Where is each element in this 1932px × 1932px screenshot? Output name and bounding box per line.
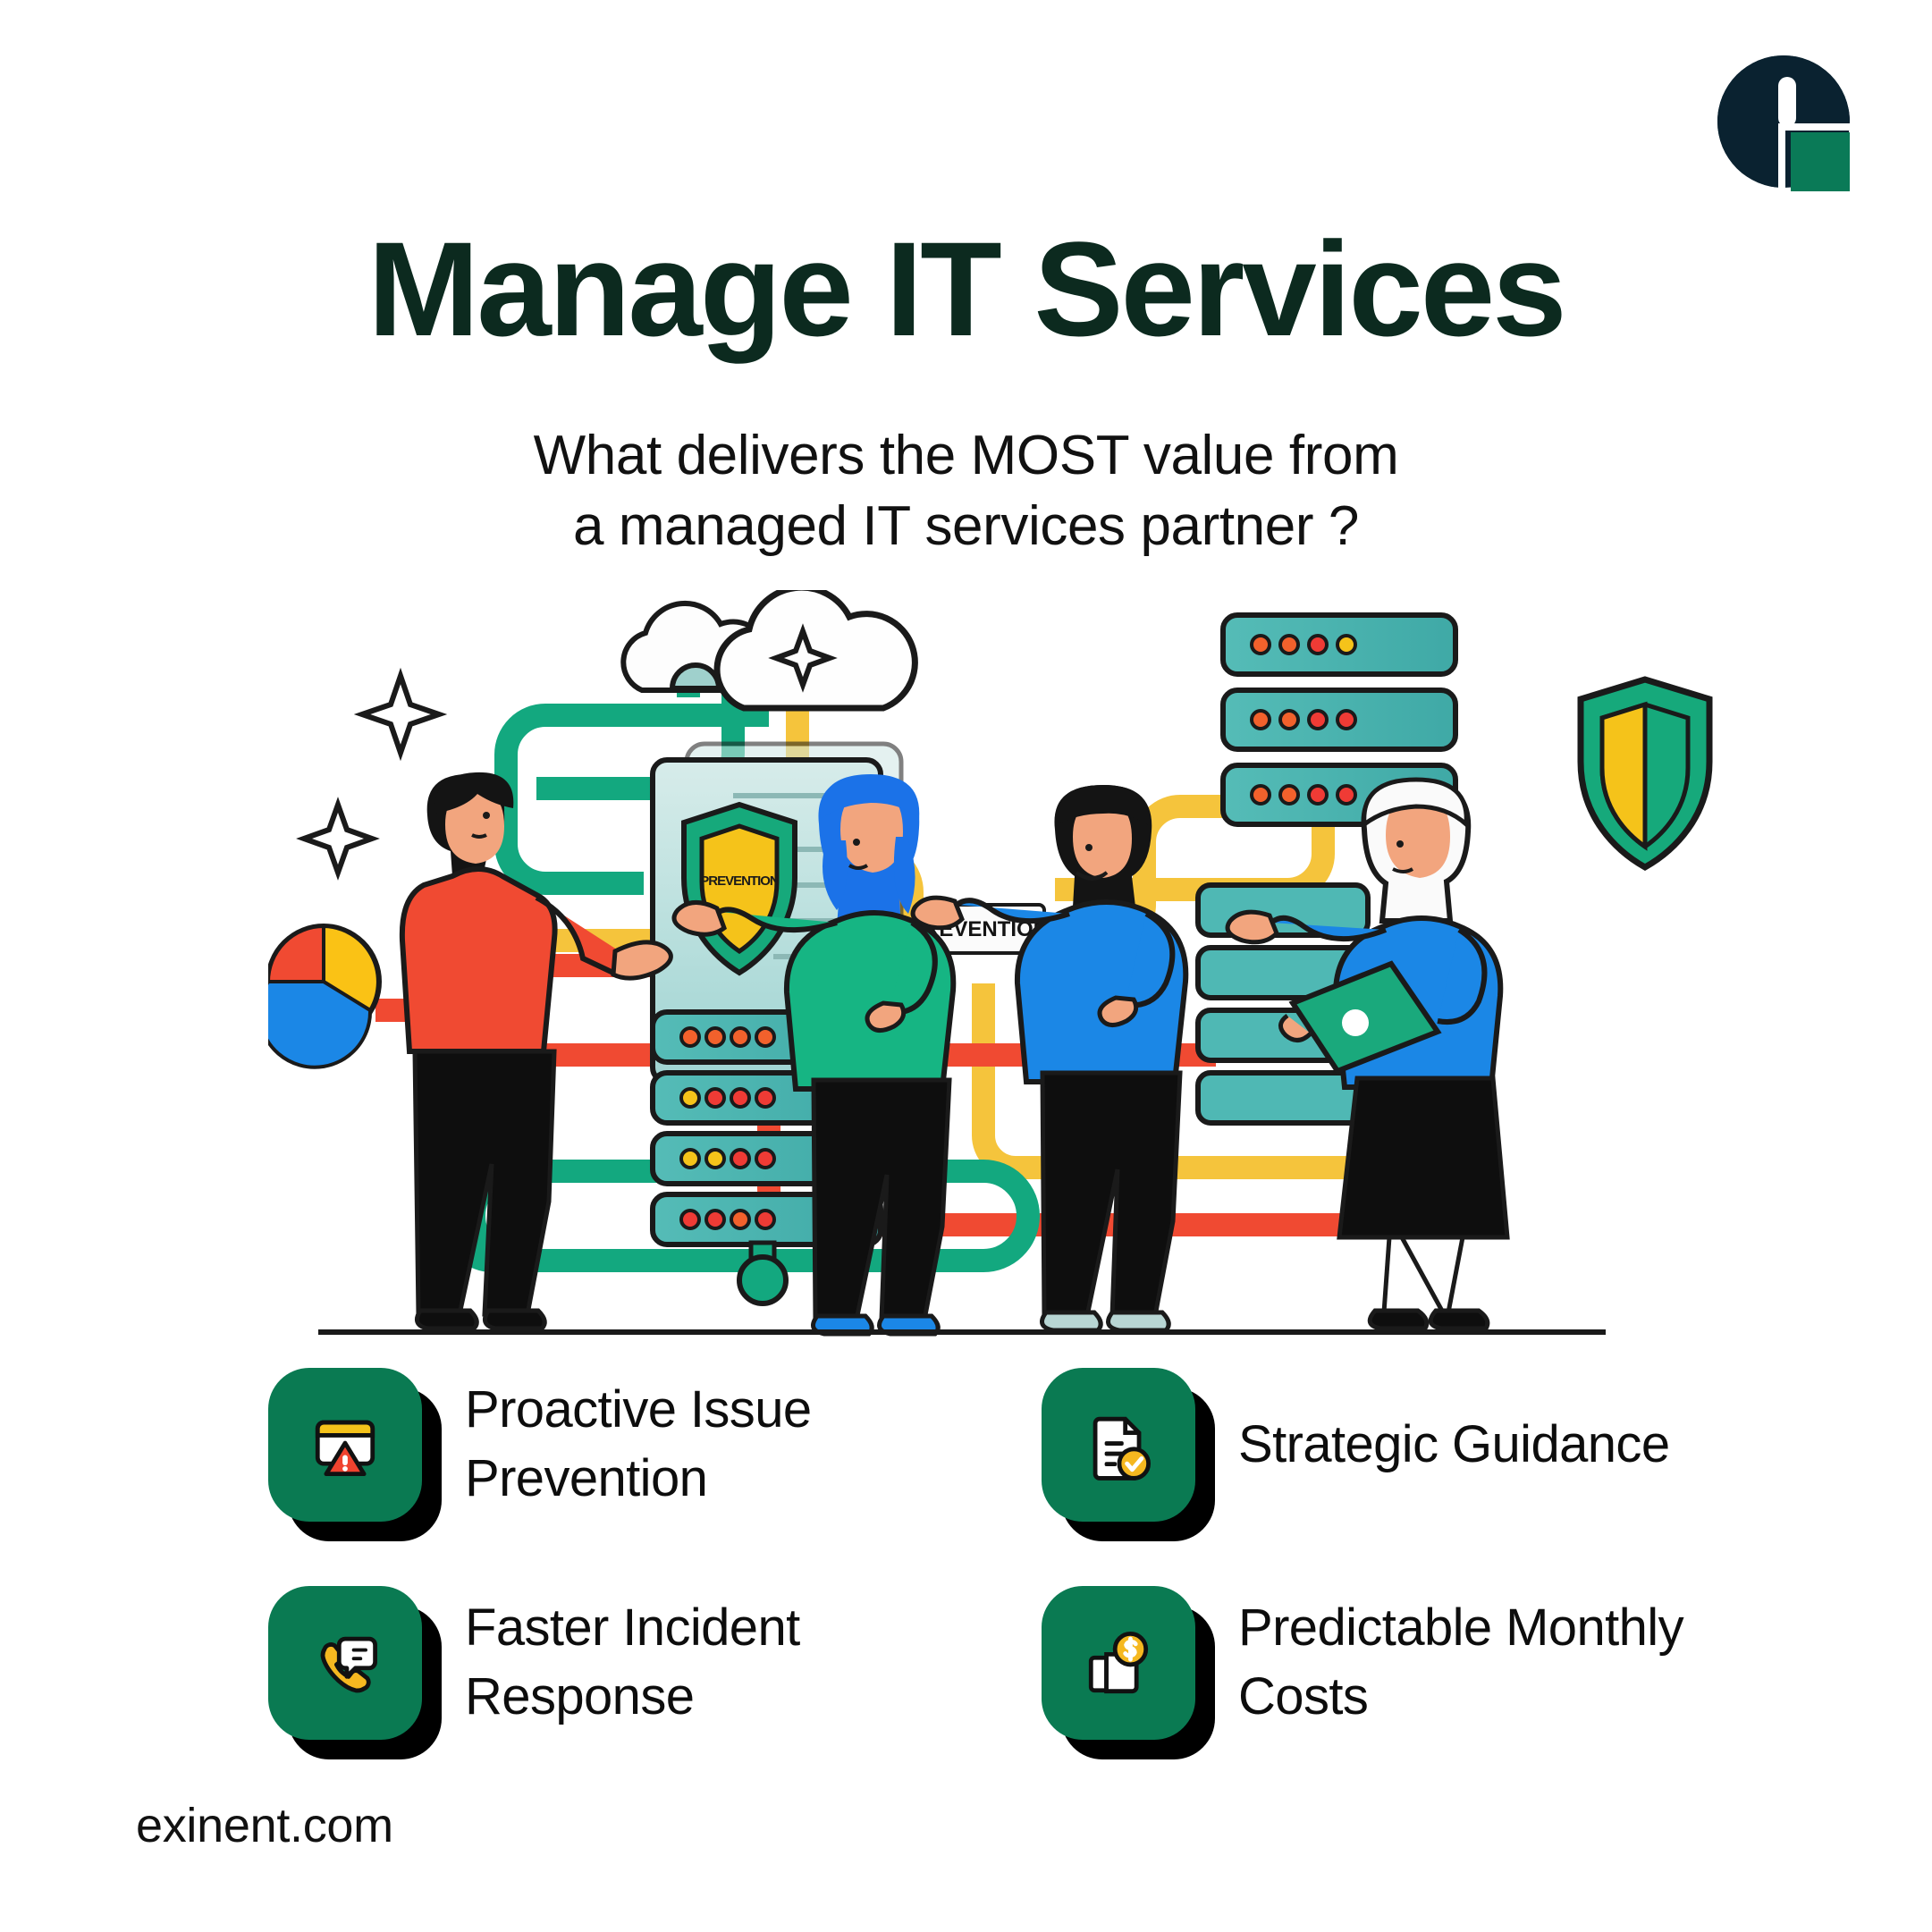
pie-chart <box>268 926 379 1067</box>
cash-coin-icon <box>1076 1620 1161 1706</box>
feature-icon-wrap <box>268 1586 422 1740</box>
subtitle-line-2: a managed IT services partner ? <box>0 491 1932 561</box>
feature-grid: Proactive Issue Prevention Strategic Gui… <box>268 1368 1734 1740</box>
feature-icon-tile <box>1042 1586 1195 1740</box>
it-services-illustration: PREVENTION PREVENTION <box>268 590 1717 1341</box>
brand-logo <box>1708 46 1859 197</box>
feature-item-predictable-monthly-costs[interactable]: Predictable Monthly Costs <box>1042 1586 1734 1740</box>
feature-icon-wrap <box>1042 1586 1195 1740</box>
subtitle-line-1: What delivers the MOST value from <box>0 420 1932 491</box>
feature-label: Strategic Guidance <box>1238 1411 1669 1480</box>
window-alert-icon <box>302 1402 388 1488</box>
feature-label: Predictable Monthly Costs <box>1238 1594 1734 1731</box>
feature-icon-wrap <box>1042 1368 1195 1522</box>
exinent-circle-square-logo <box>1708 46 1859 197</box>
phone-chat-icon <box>302 1620 388 1706</box>
feature-icon-wrap <box>268 1368 422 1522</box>
feature-label: Faster Incident Response <box>465 1594 961 1731</box>
feature-icon-tile <box>268 1368 422 1522</box>
page-title: Manage IT Services <box>0 222 1932 356</box>
feature-label: Proactive Issue Prevention <box>465 1376 961 1513</box>
page-subtitle: What delivers the MOST value from a mana… <box>0 420 1932 562</box>
shield-badge-text: PREVENTION <box>700 873 779 889</box>
shield-icon <box>1581 679 1709 867</box>
footer-url: exinent.com <box>136 1798 393 1853</box>
feature-item-strategic-guidance[interactable]: Strategic Guidance <box>1042 1368 1734 1522</box>
feature-icon-tile <box>1042 1368 1195 1522</box>
cloud-large-icon <box>717 590 915 708</box>
feature-icon-tile <box>268 1586 422 1740</box>
document-check-icon <box>1076 1402 1161 1488</box>
feature-item-proactive-issue-prevention[interactable]: Proactive Issue Prevention <box>268 1368 961 1522</box>
feature-item-faster-incident-response[interactable]: Faster Incident Response <box>268 1586 961 1740</box>
hero-illustration: PREVENTION PREVENTION <box>268 590 1717 1341</box>
